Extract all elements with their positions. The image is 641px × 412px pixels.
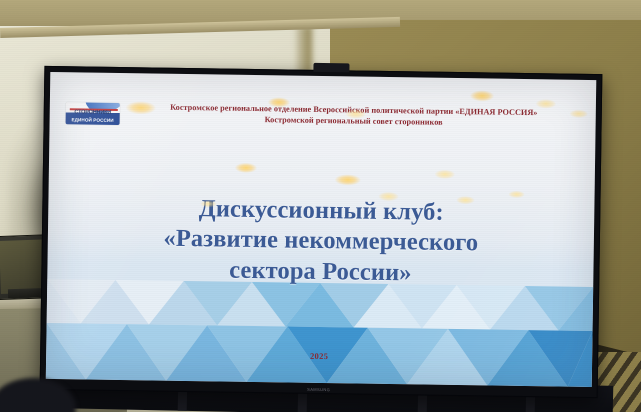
logo-line-1: СТОРОННИКИ <box>68 109 118 116</box>
presentation-slide: СТОРОННИКИ ЕДИНОЙ РОССИИ Костромское рег… <box>46 72 596 387</box>
slide-header: Костромское региональное отделение Всеро… <box>124 101 584 130</box>
logo-line-2: ЕДИНОЙ РОССИИ <box>68 117 118 123</box>
slide-title: Дискуссионный клуб: «Развитие некоммерче… <box>73 192 568 290</box>
wall-display[interactable]: СТОРОННИКИ ЕДИНОЙ РОССИИ Костромское рег… <box>40 66 603 398</box>
party-supporters-logo: СТОРОННИКИ ЕДИНОЙ РОССИИ <box>66 102 120 125</box>
display-bezel: СТОРОННИКИ ЕДИНОЙ РОССИИ Костромское рег… <box>41 67 602 397</box>
photo-scene: СТОРОННИКИ ЕДИНОЙ РОССИИ Костромское рег… <box>0 0 641 412</box>
display-brand-label: SAMSUNG <box>307 387 330 392</box>
display-screen[interactable]: СТОРОННИКИ ЕДИНОЙ РОССИИ Костромское рег… <box>46 72 596 387</box>
